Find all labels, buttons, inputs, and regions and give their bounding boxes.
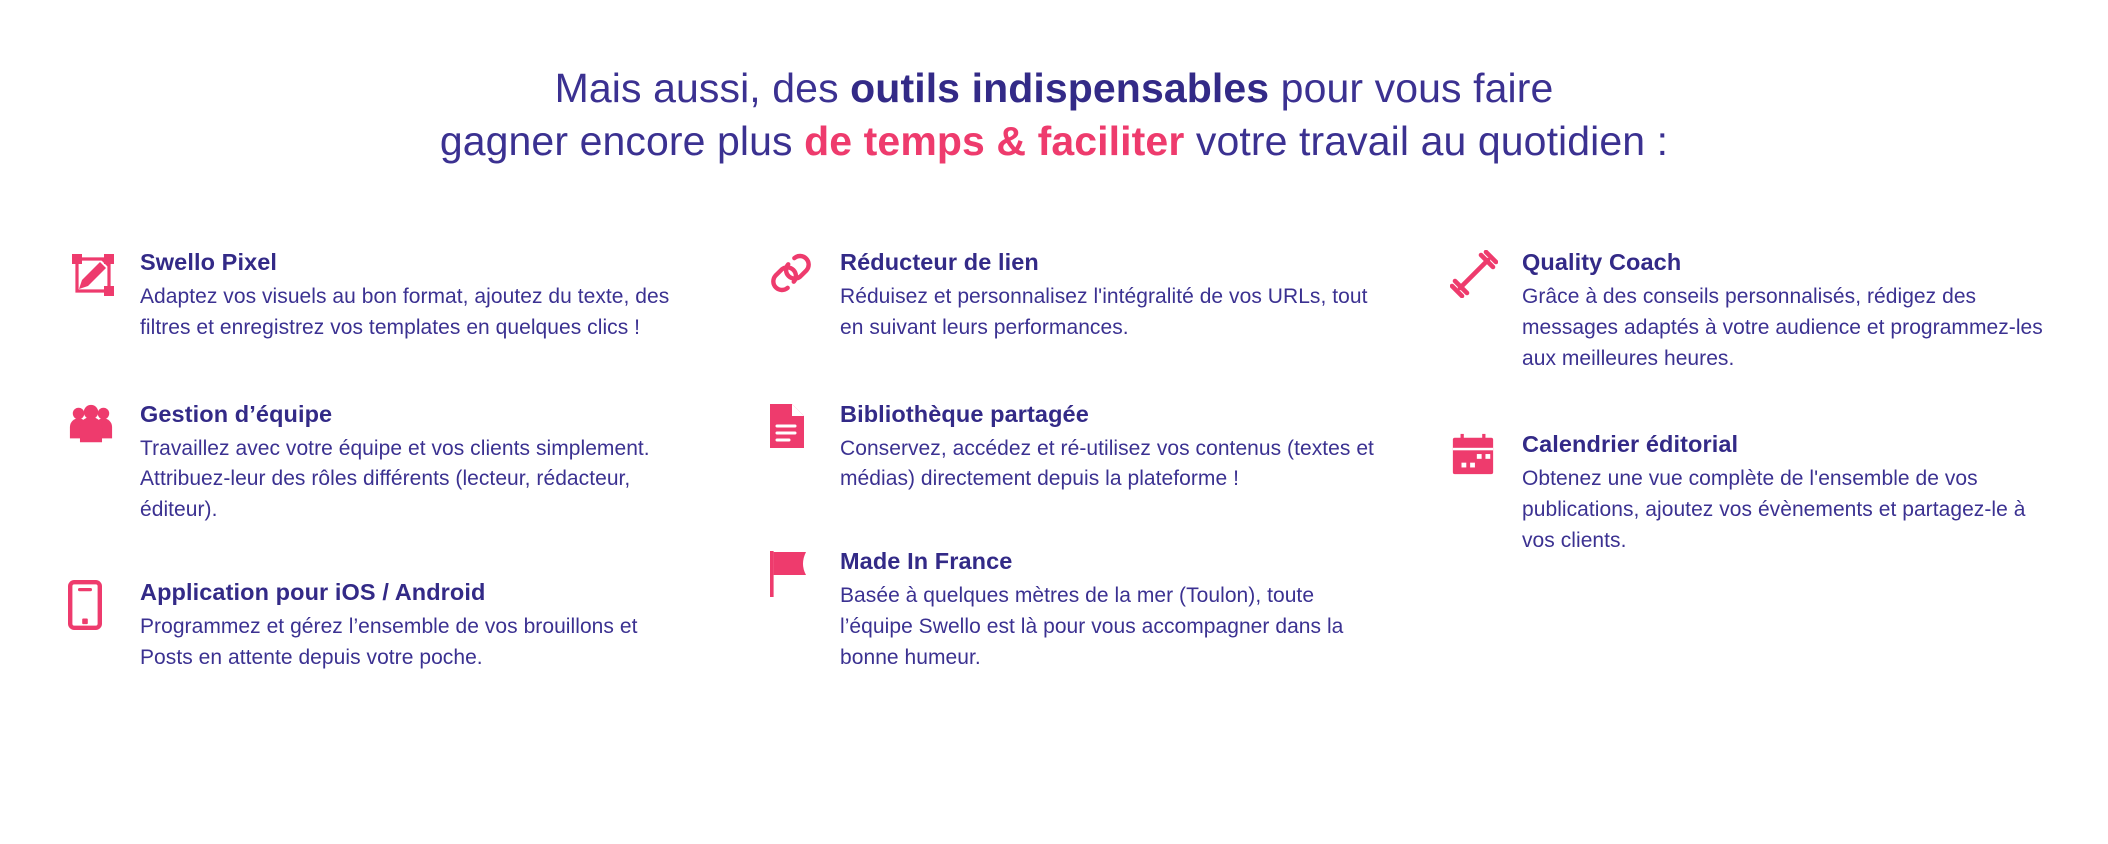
feature-text: Gestion d’équipe Travaillez avec votre é… [140, 400, 760, 526]
heading-line-2: gagner encore plus de temps & faciliter … [440, 118, 1668, 164]
heading-section: Mais aussi, des outils indispensables po… [0, 0, 2108, 169]
feature-description: Adaptez vos visuels au bon format, ajout… [140, 282, 680, 343]
feature-text: Made In France Basée à quelques mètres d… [840, 547, 1450, 673]
feature-made-in-france: Made In France Basée à quelques mètres d… [768, 547, 1450, 673]
feature-title: Réducteur de lien [840, 248, 1450, 276]
feature-text: Quality Coach Grâce à des conseils perso… [1522, 248, 2108, 374]
feature-reducteur-de-lien: Réducteur de lien Réduisez et personnali… [768, 248, 1450, 344]
feature-title: Application pour iOS / Android [140, 578, 760, 606]
feature-gestion-d-equipe: Gestion d’équipe Travaillez avec votre é… [68, 400, 760, 526]
feature-title: Bibliothèque partagée [840, 400, 1450, 428]
feature-bibliotheque-partagee: Bibliothèque partagée Conservez, accédez… [768, 400, 1450, 496]
heading-line-1: Mais aussi, des outils indispensables po… [555, 65, 1554, 111]
feature-text: Application pour iOS / Android Programme… [140, 578, 760, 674]
feature-text: Calendrier éditorial Obtenez une vue com… [1522, 430, 2108, 556]
features-column-2: Réducteur de lien Réduisez et personnali… [760, 248, 1450, 673]
feature-description: Travaillez avec votre équipe et vos clie… [140, 434, 680, 526]
heading-line2-post: votre travail au quotidien : [1184, 118, 1668, 164]
document-file-icon [768, 400, 840, 462]
feature-text: Bibliothèque partagée Conservez, accédez… [840, 400, 1450, 496]
calendar-icon [1450, 430, 1522, 492]
page-title: Mais aussi, des outils indispensables po… [0, 62, 2108, 169]
heading-line1-strong: outils indispensables [850, 65, 1269, 111]
feature-description: Réduisez et personnalisez l'intégralité … [840, 282, 1385, 343]
feature-text: Réducteur de lien Réduisez et personnali… [840, 248, 1450, 344]
feature-calendrier-editorial: Calendrier éditorial Obtenez une vue com… [1450, 430, 2108, 556]
dumbbell-icon [1450, 248, 1522, 310]
features-column-1: Swello Pixel Adaptez vos visuels au bon … [0, 248, 760, 673]
feature-description: Grâce à des conseils personnalisés, rédi… [1522, 282, 2052, 374]
feature-title: Made In France [840, 547, 1450, 575]
link-chain-icon [768, 248, 840, 310]
heading-line1-pre: Mais aussi, des [555, 65, 851, 111]
heading-line2-strong: de temps & faciliter [804, 118, 1184, 164]
features-grid: Swello Pixel Adaptez vos visuels au bon … [0, 248, 2108, 673]
feature-title: Quality Coach [1522, 248, 2108, 276]
heading-line2-pre: gagner encore plus [440, 118, 804, 164]
feature-description: Basée à quelques mètres de la mer (Toulo… [840, 581, 1385, 673]
feature-title: Swello Pixel [140, 248, 760, 276]
flag-icon [768, 547, 840, 609]
feature-title: Calendrier éditorial [1522, 430, 2108, 458]
crop-pencil-icon [68, 248, 140, 310]
feature-application-mobile: Application pour iOS / Android Programme… [68, 578, 760, 674]
team-group-icon [68, 400, 140, 462]
feature-description: Conservez, accédez et ré-utilisez vos co… [840, 434, 1385, 495]
features-column-3: Quality Coach Grâce à des conseils perso… [1450, 248, 2108, 608]
heading-line1-post: pour vous faire [1269, 65, 1553, 111]
feature-title: Gestion d’équipe [140, 400, 760, 428]
feature-quality-coach: Quality Coach Grâce à des conseils perso… [1450, 248, 2108, 374]
feature-description: Programmez et gérez l’ensemble de vos br… [140, 612, 680, 673]
mobile-phone-icon [68, 578, 140, 640]
feature-text: Swello Pixel Adaptez vos visuels au bon … [140, 248, 760, 344]
feature-swello-pixel: Swello Pixel Adaptez vos visuels au bon … [68, 248, 760, 344]
feature-description: Obtenez une vue complète de l'ensemble d… [1522, 464, 2052, 556]
